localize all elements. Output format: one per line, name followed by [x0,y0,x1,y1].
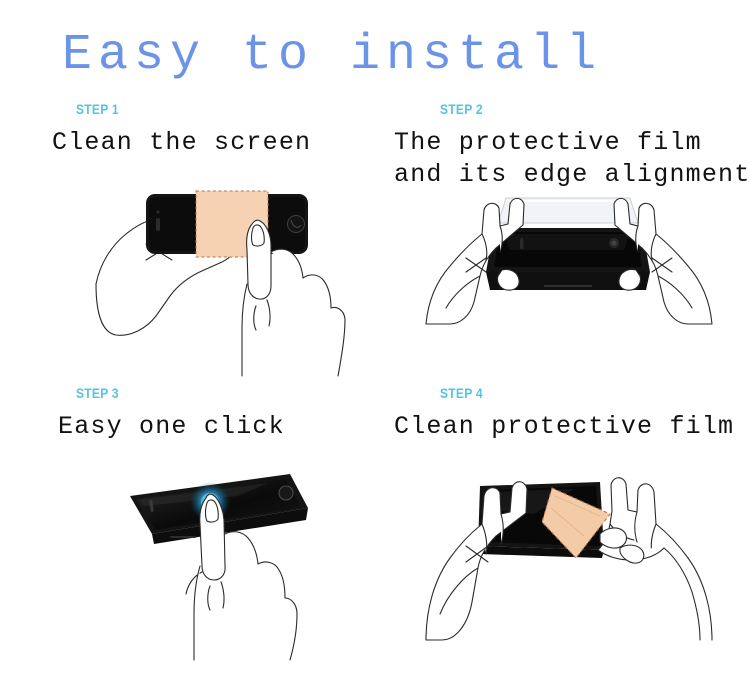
left-hand-outline [426,482,527,640]
step-1-block: STEP 1 Clean the screen [76,101,311,159]
right-hand-outline [598,478,712,640]
step-2-label: STEP 2 [440,101,707,117]
step-1-caption-line-1: Clean the screen [52,127,311,159]
step-4-label: STEP 4 [440,385,693,401]
step-3-caption-line-1: Easy one click [58,411,285,443]
step-2-caption-line-2: and its edge alignment [394,159,750,191]
install-instructions-page: Easy to install STEP 1 Clean the screen … [0,0,750,683]
step-4-caption-line-1: Clean protective film [394,411,734,443]
step-2-block: STEP 2 The protective film and its edge … [440,101,750,191]
step-4-caption: Clean protective film [394,411,734,443]
step-1-illustration [86,188,346,378]
step-1-caption: Clean the screen [52,127,311,159]
step-2-caption: The protective film and its edge alignme… [394,127,750,191]
step-3-caption: Easy one click [58,411,285,443]
step-4-block: STEP 4 Clean protective film [440,385,734,443]
step-2-caption-line-1: The protective film [394,127,750,159]
step-1-label: STEP 1 [76,101,278,117]
page-title: Easy to install [62,27,602,85]
step-3-label: STEP 3 [76,385,256,401]
step-2-illustration [424,190,714,325]
step-3-block: STEP 3 Easy one click [76,385,285,443]
step-3-illustration [118,462,328,662]
step-4-illustration [424,462,714,642]
